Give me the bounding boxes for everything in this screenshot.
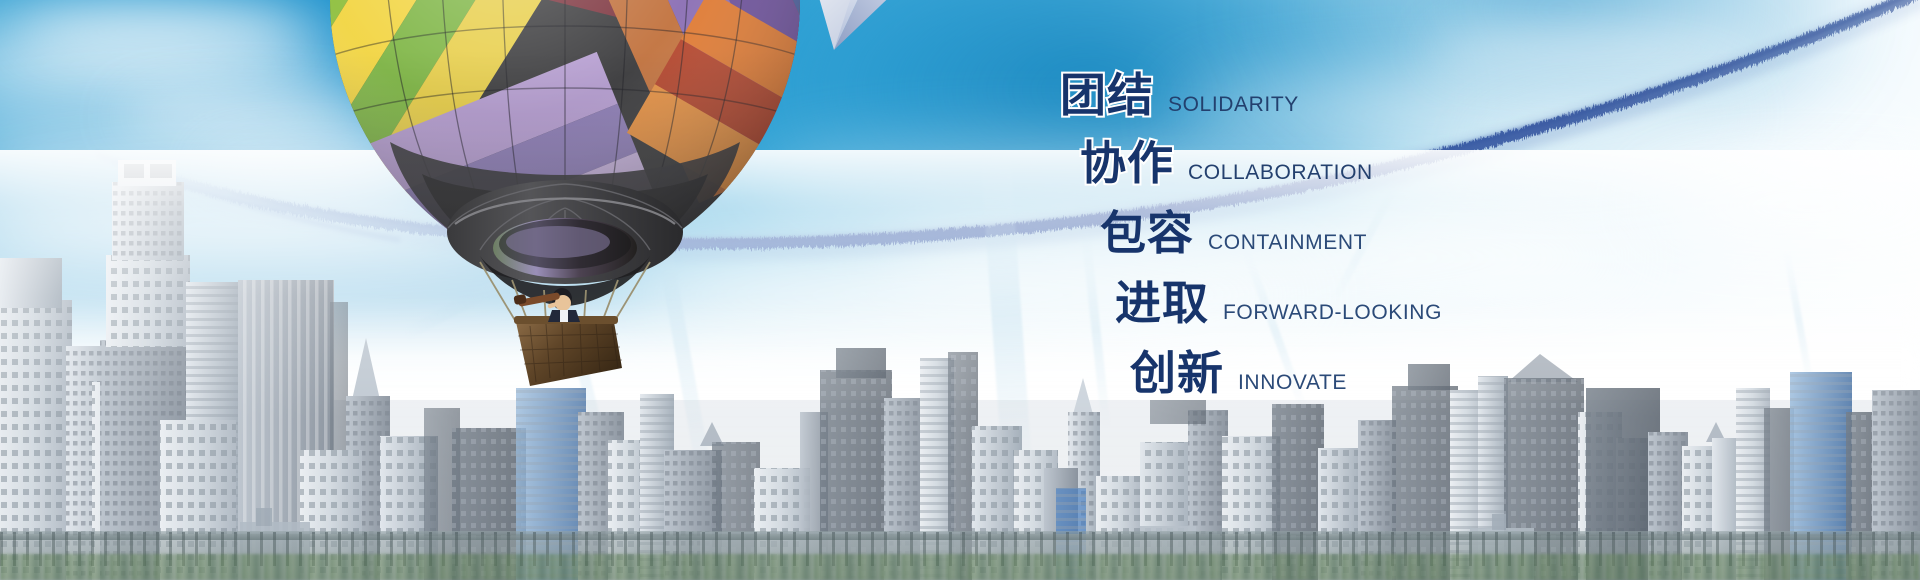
slogan-en-collaboration: COLLABORATION: [1188, 161, 1373, 185]
treeline: [0, 554, 1920, 580]
slogan-row-solidarity: 团结 SOLIDARITY: [1060, 72, 1299, 118]
slogan-en-forward-looking: FORWARD-LOOKING: [1223, 301, 1442, 325]
slogan-en-innovate: INNOVATE: [1238, 371, 1347, 395]
slogan-row-forward-looking: 进取 FORWARD-LOOKING: [1115, 280, 1442, 326]
slogan-cn-solidarity: 团结: [1060, 72, 1154, 118]
hot-air-balloon: [330, 0, 800, 390]
slogan-row-collaboration: 协作 COLLABORATION: [1080, 140, 1373, 186]
slogan-cn-forward-looking: 进取: [1115, 280, 1209, 326]
slogan-row-innovate: 创新 INNOVATE: [1130, 350, 1347, 396]
paper-airplane-icon: [786, 0, 936, 64]
slogan-en-solidarity: SOLIDARITY: [1168, 93, 1299, 117]
slogan-cn-collaboration: 协作: [1080, 140, 1174, 186]
slogan-cn-innovate: 创新: [1130, 350, 1224, 396]
slogan-cn-containment: 包容: [1100, 210, 1194, 256]
slogan-row-containment: 包容 CONTAINMENT: [1100, 210, 1367, 256]
hero-banner: 团结 SOLIDARITY 协作 COLLABORATION 包容 CONTAI…: [0, 0, 1920, 580]
balloon-mouth: [447, 180, 683, 284]
slogan-block: 团结 SOLIDARITY 协作 COLLABORATION 包容 CONTAI…: [1060, 72, 1700, 402]
slogan-en-containment: CONTAINMENT: [1208, 231, 1367, 255]
balloon-basket: [514, 316, 622, 386]
